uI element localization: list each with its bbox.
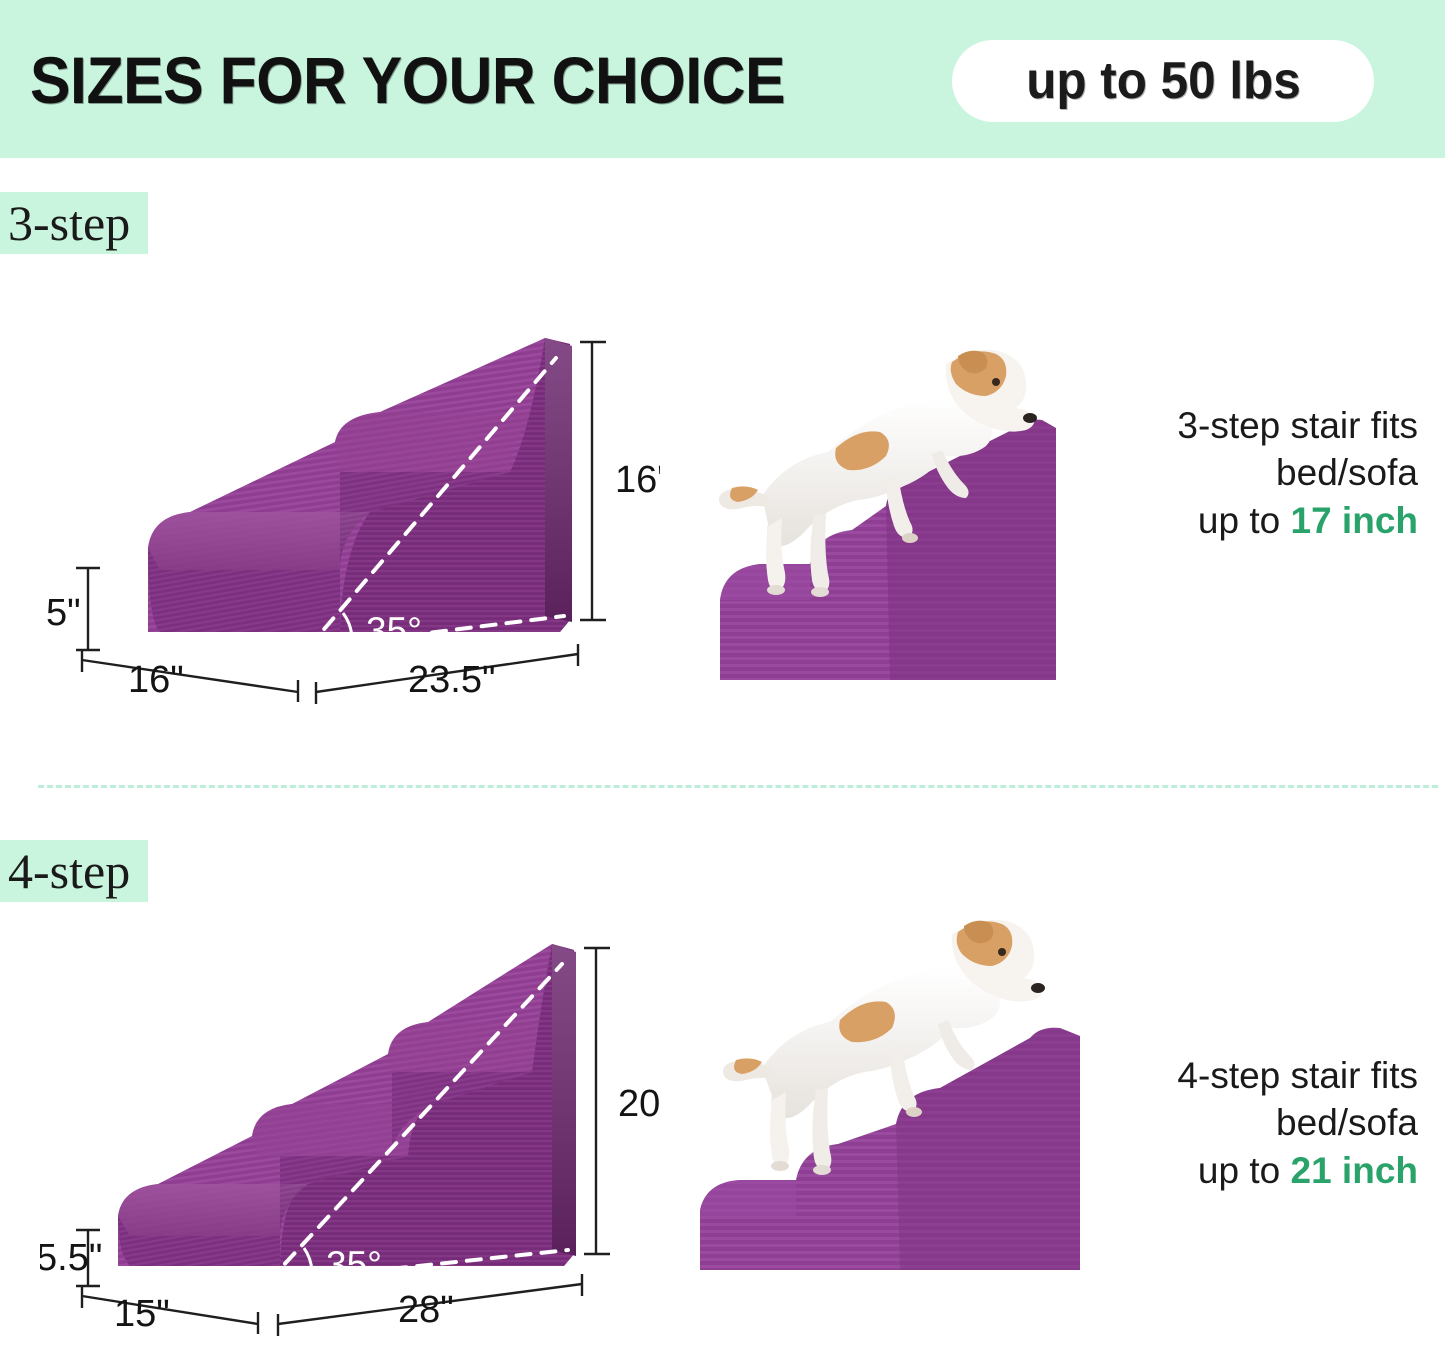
angle-label-3-step: 35° bbox=[366, 610, 422, 651]
height-label-3-step: 16" bbox=[615, 459, 660, 501]
fit-prefix-4-step: up to bbox=[1198, 1150, 1291, 1191]
section-label-4-step-text: 4-step bbox=[8, 842, 130, 900]
header-banner: SIZES FOR YOUR CHOICE up to 50 lbs bbox=[0, 0, 1445, 158]
fit-line-2-4-step: bed/sofa bbox=[1108, 1099, 1418, 1146]
first-step-height-label-4-step: 5.5" bbox=[40, 1237, 102, 1279]
section-divider bbox=[38, 785, 1438, 788]
fit-highlight-4-step: 21 inch bbox=[1291, 1150, 1419, 1191]
fit-line-3-3-step: up to 17 inch bbox=[1108, 497, 1418, 544]
weight-capacity-label: up to 50 lbs bbox=[1026, 51, 1300, 111]
angle-label-4-step: 35° bbox=[326, 1244, 382, 1285]
depth-label-4-step: 15" bbox=[114, 1293, 170, 1335]
section-label-3-step: 3-step bbox=[0, 192, 148, 254]
weight-capacity-badge: up to 50 lbs bbox=[952, 40, 1374, 122]
product-diagram-3-step: 35° 16" 5" 16" 23.5" bbox=[40, 320, 660, 720]
fit-line-3-4-step: up to 21 inch bbox=[1108, 1147, 1418, 1194]
height-label-4-step: 20" bbox=[618, 1083, 660, 1125]
length-label-4-step: 28" bbox=[398, 1289, 454, 1331]
fit-highlight-3-step: 17 inch bbox=[1291, 500, 1419, 541]
product-photo-4-step bbox=[700, 880, 1110, 1270]
fit-line-2-3-step: bed/sofa bbox=[1108, 449, 1418, 496]
fit-line-1-4-step: 4-step stair fits bbox=[1108, 1052, 1418, 1099]
fit-description-3-step: 3-step stair fits bed/sofa up to 17 inch bbox=[1108, 402, 1418, 544]
depth-label-3-step: 16" bbox=[128, 659, 184, 701]
first-step-height-label-3-step: 5" bbox=[46, 592, 81, 634]
section-label-3-step-text: 3-step bbox=[8, 194, 130, 252]
fit-prefix-3-step: up to bbox=[1198, 500, 1291, 541]
length-label-3-step: 23.5" bbox=[408, 659, 495, 701]
fit-line-1-3-step: 3-step stair fits bbox=[1108, 402, 1418, 449]
page-title: SIZES FOR YOUR CHOICE bbox=[30, 42, 785, 118]
fit-description-4-step: 4-step stair fits bed/sofa up to 21 inch bbox=[1108, 1052, 1418, 1194]
section-label-4-step: 4-step bbox=[0, 840, 148, 902]
product-diagram-4-step: 35° 20" 5.5" 15" 28" bbox=[40, 930, 660, 1350]
product-photo-3-step bbox=[690, 300, 1090, 680]
